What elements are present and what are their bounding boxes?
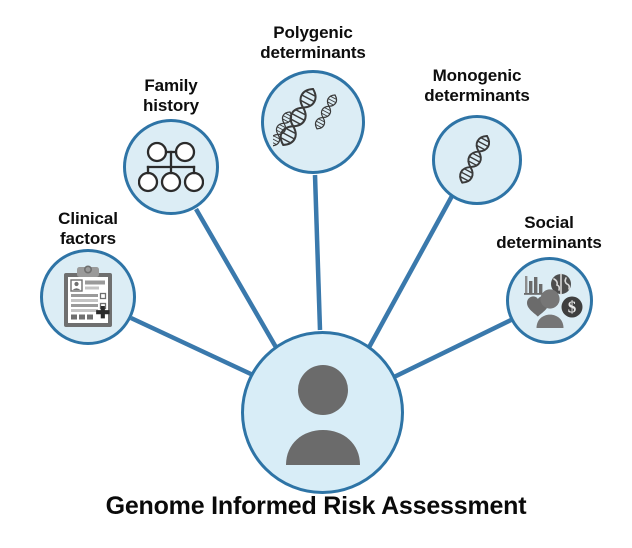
person-silhouette-icon xyxy=(271,359,375,467)
node-label-social-determinants: Social determinants xyxy=(479,213,619,253)
node-label-polygenic-determinants: Polygenic determinants xyxy=(243,23,383,63)
triple-dna-helix-icon xyxy=(273,82,353,162)
social-factors-person-icon: $ xyxy=(516,271,584,331)
node-label-clinical-factors: Clinical factors xyxy=(24,209,152,249)
diagram-canvas: Clinical factors xyxy=(0,0,632,548)
bubble-monogenic-determinants[interactable] xyxy=(432,115,522,205)
connector-clinical-factors-to-center xyxy=(131,318,253,375)
dollar-coin-icon: $ xyxy=(561,296,582,317)
clipboard-medical-form-icon xyxy=(60,265,116,329)
single-dna-helix-icon xyxy=(445,128,509,192)
node-label-monogenic-determinants: Monogenic determinants xyxy=(407,66,547,106)
connector-monogenic-determinants-to-center xyxy=(367,196,452,351)
connector-polygenic-determinants-to-center xyxy=(315,175,320,330)
connector-family-history-to-center xyxy=(196,209,277,349)
page-title: Genome Informed Risk Assessment xyxy=(0,492,632,521)
bubble-center[interactable] xyxy=(241,331,404,494)
svg-text:$: $ xyxy=(567,297,576,316)
bar-chart-icon xyxy=(524,276,544,295)
bubble-family-history[interactable] xyxy=(123,119,219,215)
connector-social-determinants-to-center xyxy=(392,320,511,378)
node-label-family-history: Family history xyxy=(107,76,235,116)
bubble-social-determinants[interactable]: $ xyxy=(506,257,593,344)
bubble-clinical-factors[interactable] xyxy=(40,249,136,345)
pedigree-family-tree-icon xyxy=(138,141,204,193)
bubble-polygenic-determinants[interactable] xyxy=(261,70,365,174)
